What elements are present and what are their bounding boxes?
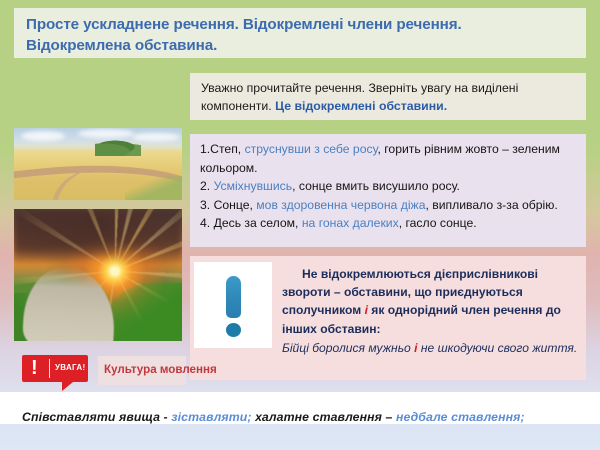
example-after: , випливало з-за обрію. bbox=[425, 198, 557, 212]
example-highlight: Усміхнувшись bbox=[214, 179, 293, 193]
bottom-part-2: халатне ставлення – bbox=[252, 410, 396, 424]
attention-badge-label: УВАГА! bbox=[55, 363, 85, 372]
examples-box: 1.Степ, струснувши з себе росу, горить р… bbox=[190, 134, 586, 247]
cloud-shape bbox=[78, 129, 134, 138]
example-sentence-3: 3. Сонце, мов здоровенна червона діжа, в… bbox=[200, 196, 578, 215]
example-number: 2. bbox=[200, 179, 214, 193]
badge-divider bbox=[49, 359, 50, 378]
rule-text: Не відокремлюються дієприслівникові звор… bbox=[282, 265, 580, 357]
rule-body: Не відокремлюються дієприслівникові звор… bbox=[282, 265, 580, 338]
instruction-box: Уважно прочитайте речення. Зверніть уваг… bbox=[190, 73, 586, 120]
culture-heading: Культура мовлення bbox=[104, 363, 217, 376]
bottom-correction-1: зіставляти; bbox=[171, 410, 251, 424]
steppe-painting-image bbox=[14, 128, 182, 200]
tree-cluster-shape bbox=[95, 140, 141, 156]
exclamation-stem-shape bbox=[226, 276, 241, 318]
example-highlight: на гонах далеких bbox=[302, 216, 399, 230]
speech-culture-note: Співставляти явища - зіставляти; халатне… bbox=[22, 410, 525, 424]
example-before: Десь за селом, bbox=[214, 216, 302, 230]
example-sentence-1: 1.Степ, струснувши з себе росу, горить р… bbox=[200, 140, 578, 177]
rule-example-part-1: Бійці боролися мужньо bbox=[282, 341, 414, 355]
steppe-scene bbox=[14, 128, 182, 200]
sunset-photo-image bbox=[14, 209, 182, 341]
attention-exclamation-icon: ! bbox=[31, 357, 38, 380]
badge-tail-shape bbox=[62, 382, 73, 391]
cloud-shape bbox=[21, 131, 65, 141]
grass-patch-shape bbox=[125, 176, 182, 200]
instruction-text: Уважно прочитайте речення. Зверніть уваг… bbox=[201, 80, 578, 115]
bottom-part-1: Співставляти явища - bbox=[22, 410, 171, 424]
rule-example-part-2: не шкодуючи свого життя. bbox=[418, 341, 578, 355]
page-title: Просте ускладнене речення. Відокремлені … bbox=[26, 14, 576, 56]
attention-badge: ! УВАГА! bbox=[22, 355, 88, 382]
example-highlight: струснувши з себе росу bbox=[245, 142, 378, 156]
exclamation-mark-icon bbox=[194, 262, 272, 348]
example-before: Сонце, bbox=[214, 198, 257, 212]
exclamation-dot-shape bbox=[226, 323, 241, 337]
rule-box: Не відокремлюються дієприслівникові звор… bbox=[190, 256, 586, 380]
example-number: 3. bbox=[200, 198, 214, 212]
instruction-emphasis: Це відокремлені обставини. bbox=[275, 99, 447, 113]
bottom-correction-2: недбале ставлення; bbox=[396, 410, 525, 424]
sunset-scene bbox=[14, 209, 182, 341]
rule-example: Бійці боролися мужньо і не шкодуючи свог… bbox=[282, 339, 580, 357]
example-sentence-4: 4. Десь за селом, на гонах далеких, гасл… bbox=[200, 214, 578, 233]
example-after: , сонце вмить висушило росу. bbox=[292, 179, 460, 193]
example-number: 1. bbox=[200, 142, 210, 156]
example-after: , гасло сонце. bbox=[399, 216, 477, 230]
example-highlight: мов здоровенна червона діжа bbox=[256, 198, 425, 212]
slide-title-box: Просте ускладнене речення. Відокремлені … bbox=[14, 8, 586, 58]
example-number: 4. bbox=[200, 216, 214, 230]
example-sentence-2: 2. Усміхнувшись, сонце вмить висушило ро… bbox=[200, 177, 578, 196]
slide-root: Просте ускладнене речення. Відокремлені … bbox=[0, 0, 600, 450]
example-before: Степ, bbox=[210, 142, 244, 156]
